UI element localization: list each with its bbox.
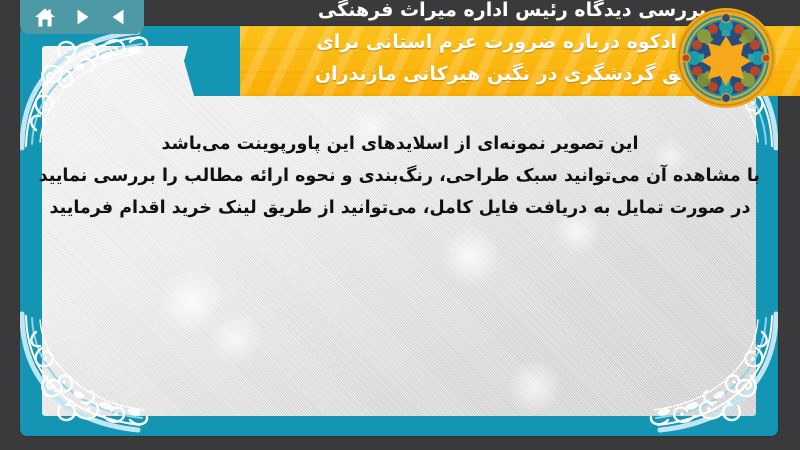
previous-slide-button[interactable] — [107, 5, 131, 29]
presentation-slide: این تصویر نمونه‌ای از اسلایدهای این پاور… — [0, 0, 800, 450]
slide-body-text: این تصویر نمونه‌ای از اسلایدهای این پاور… — [40, 128, 760, 224]
content-panel-surface — [42, 46, 756, 416]
triangle-right-icon — [72, 7, 92, 27]
home-icon — [34, 7, 56, 28]
triangle-left-icon — [109, 7, 129, 27]
persian-medallion-icon — [674, 6, 778, 110]
home-button[interactable] — [33, 5, 57, 29]
slide-navigation-bar — [20, 0, 144, 34]
body-line-2: با مشاهده آن می‌توانید سبک طراحی، رنگ‌بن… — [40, 160, 760, 192]
body-line-3: در صورت تمایل به دریافت فایل کامل، می‌تو… — [40, 192, 760, 224]
next-slide-button[interactable] — [70, 5, 94, 29]
banner-arrow-connector — [184, 26, 240, 96]
body-line-1: این تصویر نمونه‌ای از اسلایدهای این پاور… — [40, 128, 760, 160]
